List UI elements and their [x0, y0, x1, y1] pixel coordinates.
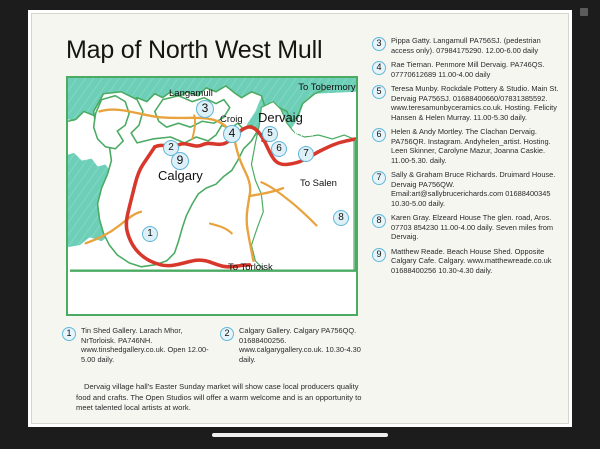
map-pin-1[interactable]: 1: [142, 226, 158, 242]
listing-number: 4: [372, 61, 386, 75]
listing-text: Pippa Gatty. Langamull PA756SJ. (pedestr…: [391, 36, 564, 55]
listing-item[interactable]: 1 Tin Shed Gallery. Larach Mhor, NrTorlo…: [62, 326, 210, 364]
listing-text: Sally & Graham Bruce Richards. Druimard …: [391, 170, 564, 208]
listing-column-2: 2 Calgary Gallery. Calgary PA756QQ. 0168…: [220, 326, 368, 370]
battery-indicator-icon: [580, 8, 588, 16]
listing-item[interactable]: 6 Helen & Andy Mortley. The Clachan Derv…: [372, 127, 564, 165]
listing-item[interactable]: 5 Teresa Munby. Rockdale Pottery & Studi…: [372, 84, 564, 122]
map-pin-8[interactable]: 8: [333, 210, 349, 226]
listing-column-1: 1 Tin Shed Gallery. Larach Mhor, NrTorlo…: [62, 326, 210, 370]
listing-number: 9: [372, 248, 386, 262]
listing-text: Rae Tiernan. Penmore Mill Dervaig. PA746…: [391, 60, 564, 79]
map-pin-5[interactable]: 5: [262, 126, 278, 142]
listing-item[interactable]: 8 Karen Gray. Elzeard House The glen. ro…: [372, 213, 564, 242]
listing-number: 2: [220, 327, 234, 341]
map-pin-4[interactable]: 4: [223, 125, 241, 143]
listing-number: 1: [62, 327, 76, 341]
listing-text: Teresa Munby. Rockdale Pottery & Studio.…: [391, 84, 564, 122]
document-page: Map of North West Mull: [31, 13, 569, 424]
listing-number: 6: [372, 128, 386, 142]
listing-text: Matthew Reade. Beach House Shed. Opposit…: [391, 247, 564, 276]
map-pin-9[interactable]: 9: [171, 152, 189, 170]
listing-text: Tin Shed Gallery. Larach Mhor, NrTorlois…: [81, 326, 210, 364]
map-pin-6[interactable]: 6: [271, 141, 287, 157]
device-screen: Map of North West Mull: [0, 0, 600, 449]
listing-item[interactable]: 3 Pippa Gatty. Langamull PA756SJ. (pedes…: [372, 36, 564, 55]
footer-note: Dervaig village hall's Easter Sunday mar…: [76, 382, 370, 414]
listing-item[interactable]: 9 Matthew Reade. Beach House Shed. Oppos…: [372, 247, 564, 276]
listing-text: Helen & Andy Mortley. The Clachan Dervai…: [391, 127, 564, 165]
listing-item[interactable]: 7 Sally & Graham Bruce Richards. Druimar…: [372, 170, 564, 208]
listing-text: Karen Gray. Elzeard House The glen. road…: [391, 213, 564, 242]
page-title: Map of North West Mull: [66, 36, 322, 65]
listing-number: 5: [372, 85, 386, 99]
listing-text: Calgary Gallery. Calgary PA756QQ. 016884…: [239, 326, 368, 364]
listing-number: 7: [372, 171, 386, 185]
listing-number: 3: [372, 37, 386, 51]
right-listings: 3 Pippa Gatty. Langamull PA756SJ. (pedes…: [372, 36, 564, 280]
listing-item[interactable]: 4 Rae Tiernan. Penmore Mill Dervaig. PA7…: [372, 60, 564, 79]
map-figure[interactable]: Langamull Croig Dervaig Village Hall Cal…: [66, 76, 358, 316]
left-listings: 1 Tin Shed Gallery. Larach Mhor, NrTorlo…: [62, 326, 368, 370]
home-indicator-bar[interactable]: [212, 433, 388, 437]
map-pin-7[interactable]: 7: [298, 146, 314, 162]
map-pin-3[interactable]: 3: [196, 100, 214, 118]
listing-number: 8: [372, 214, 386, 228]
listing-item[interactable]: 2 Calgary Gallery. Calgary PA756QQ. 0168…: [220, 326, 368, 364]
left-column: Map of North West Mull: [32, 14, 368, 423]
